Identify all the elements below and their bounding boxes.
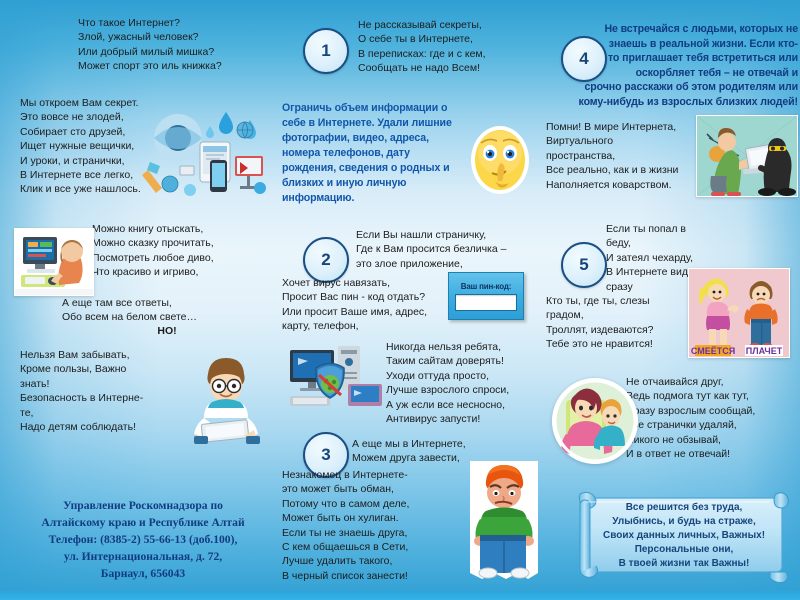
- scroll-banner-text: Все решится без труда, Улыбнись, и будь …: [594, 501, 774, 571]
- child-at-computer-image: [14, 228, 94, 296]
- section-2-verse-three: Никогда нельзя ребята, Таким сайтам дове…: [386, 340, 566, 426]
- internet-devices-collage-image: [140, 100, 270, 200]
- section-number-1: 1: [303, 28, 349, 74]
- poster-canvas: Что такое Интернет? Злой, ужасный челове…: [0, 0, 800, 600]
- organization-contacts: Управление Роскомнадзора по Алтайскому к…: [8, 497, 278, 582]
- verse-book: Можно книгу отыскать, Можно сказку прочи…: [92, 222, 292, 280]
- section-4-advisory: Не встречайся с людьми, которых не знаеш…: [546, 22, 798, 110]
- section-2-verse-two: Хочет вирус навязать, Просит Вас пин - к…: [282, 276, 457, 334]
- section-2-verse: Если Вы нашли страничку, Где к Вам проси…: [356, 228, 566, 271]
- section-1-advisory: Ограничь объем информации о себе в Интер…: [282, 101, 472, 206]
- pin-code-input[interactable]: [455, 294, 517, 311]
- verse-support: Не отчаивайся друг, Ведь подмога тут как…: [626, 375, 796, 461]
- intro-question-verse: Что такое Интернет? Злой, ужасный челове…: [78, 16, 288, 74]
- bottom-accent-band: [0, 591, 800, 600]
- section-number-5: 5: [561, 242, 607, 288]
- section-5-verse-two: Кто ты, где ты, слезы градом, Троллят, и…: [546, 294, 681, 352]
- hacker-behind-user-image: [696, 115, 798, 197]
- boy-with-laptop-image: [178, 352, 274, 444]
- pin-code-label: Ваш пин-код:: [461, 282, 511, 291]
- section-1-verse: Не рассказывай секреты, О себе ты в Инте…: [358, 18, 558, 76]
- laughing-girl-crying-boy-image: СМЕЁТСЯ ПЛАЧЕТ: [688, 268, 790, 358]
- shushing-smiley-image: [468, 123, 532, 197]
- mother-and-child-image: [552, 378, 638, 464]
- pin-code-widget[interactable]: Ваш пин-код:: [448, 272, 524, 320]
- scroll-banner: Все решится без труда, Улыбнись, и будь …: [572, 488, 790, 586]
- verse-safety: Нельзя Вам забывать, Кроме пользы, Важно…: [20, 348, 200, 434]
- section-3-verse-two: Незнакомец в Интернете- это может быть о…: [282, 468, 472, 583]
- antivirus-shield-computers-image: [286, 344, 386, 416]
- verse-answers: А еще там все ответы, Обо всем на белом …: [62, 296, 272, 325]
- svg-text:СМЕЁТСЯ: СМЕЁТСЯ: [691, 346, 735, 356]
- angry-bully-boy-image: [466, 459, 542, 581]
- verse-but-word: НО!: [62, 324, 272, 338]
- svg-text:ПЛАЧЕТ: ПЛАЧЕТ: [746, 346, 783, 356]
